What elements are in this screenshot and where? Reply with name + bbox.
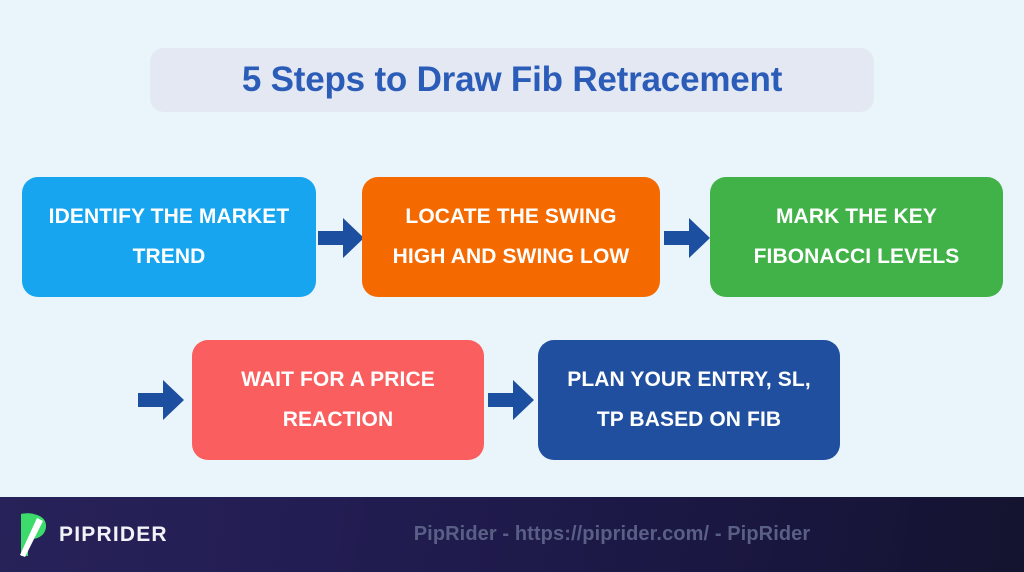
arrow-right-icon-4 xyxy=(488,380,534,420)
step-label-4: WAIT FOR A PRICE REACTION xyxy=(208,360,468,440)
footer-bar: PIPRIDER PipRider - https://piprider.com… xyxy=(0,497,1024,572)
step-box-5[interactable]: PLAN YOUR ENTRY, SL, TP BASED ON FIB xyxy=(538,340,840,460)
page-title: 5 Steps to Draw Fib Retracement xyxy=(242,60,782,100)
infographic-canvas: 5 Steps to Draw Fib Retracement IDENTIFY… xyxy=(0,0,1024,572)
page-title-pill: 5 Steps to Draw Fib Retracement xyxy=(150,48,874,112)
step-box-2[interactable]: LOCATE THE SWING HIGH AND SWING LOW xyxy=(362,177,660,297)
footer-credit-text: PipRider - https://piprider.com/ - PipRi… xyxy=(0,523,1024,546)
step-label-3: MARK THE KEY FIBONACCI LEVELS xyxy=(726,197,987,277)
arrow-right-icon-1 xyxy=(318,218,364,258)
step-label-1: IDENTIFY THE MARKET TREND xyxy=(38,197,300,277)
arrow-right-icon-2 xyxy=(664,218,710,258)
step-label-5: PLAN YOUR ENTRY, SL, TP BASED ON FIB xyxy=(554,360,824,440)
step-box-4[interactable]: WAIT FOR A PRICE REACTION xyxy=(192,340,484,460)
step-box-1[interactable]: IDENTIFY THE MARKET TREND xyxy=(22,177,316,297)
step-box-3[interactable]: MARK THE KEY FIBONACCI LEVELS xyxy=(710,177,1003,297)
arrow-right-icon-3 xyxy=(138,380,184,420)
step-label-2: LOCATE THE SWING HIGH AND SWING LOW xyxy=(378,197,644,277)
